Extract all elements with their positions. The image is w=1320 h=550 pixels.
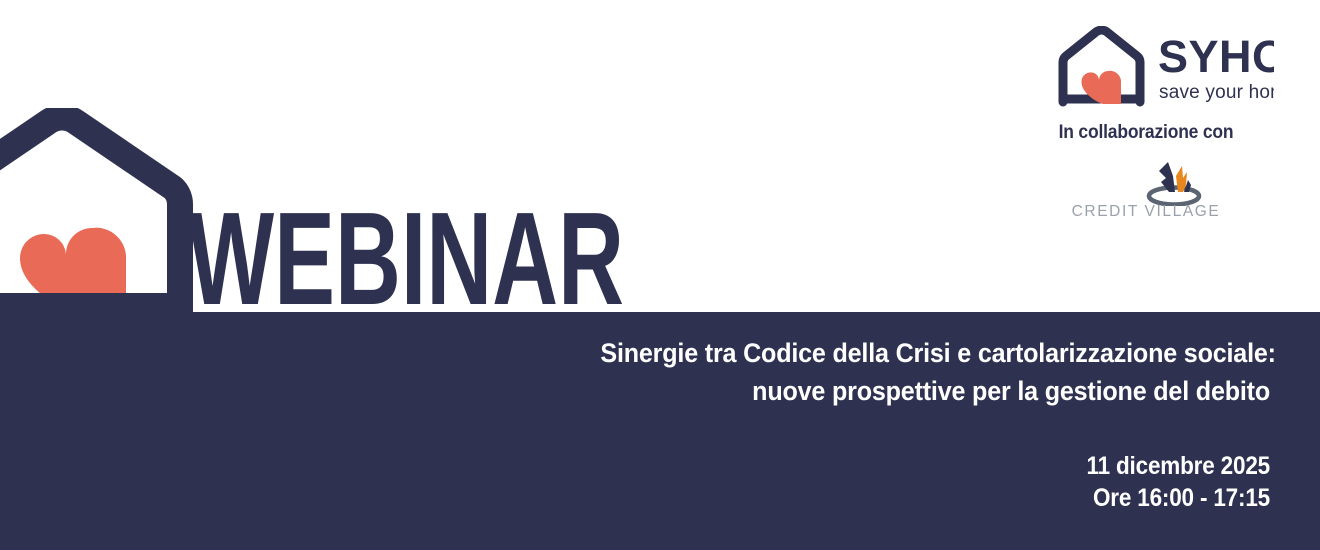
credit-village-flame-logo <box>1126 158 1222 206</box>
event-datetime: 11 dicembre 2025 Ore 16:00 - 17:15 <box>550 450 1270 514</box>
event-title-line-2: nuove prospettive per la gestione del de… <box>600 372 1270 410</box>
syho-logo-tagline: save your home <box>1159 82 1274 103</box>
event-date: 11 dicembre 2025 <box>622 450 1270 482</box>
webinar-wordmark-text: WEBINAR <box>188 186 624 314</box>
event-time: Ore 16:00 - 17:15 <box>622 482 1270 514</box>
webinar-wordmark: WEBINAR <box>188 186 628 314</box>
event-title-line-1: Sinergie tra Codice della Crisi e cartol… <box>600 334 1270 372</box>
event-title: Sinergie tra Codice della Crisi e cartol… <box>550 334 1270 410</box>
collaboration-label: In collaborazione con <box>1030 122 1262 144</box>
syho-logo: SYHO save your home <box>1058 26 1274 108</box>
credit-village-name: CREDIT VILLAGE <box>1020 203 1272 221</box>
webinar-banner: WEBINAR SYHO save your home In collabora… <box>0 0 1320 550</box>
syho-logo-name: SYHO <box>1158 31 1274 82</box>
